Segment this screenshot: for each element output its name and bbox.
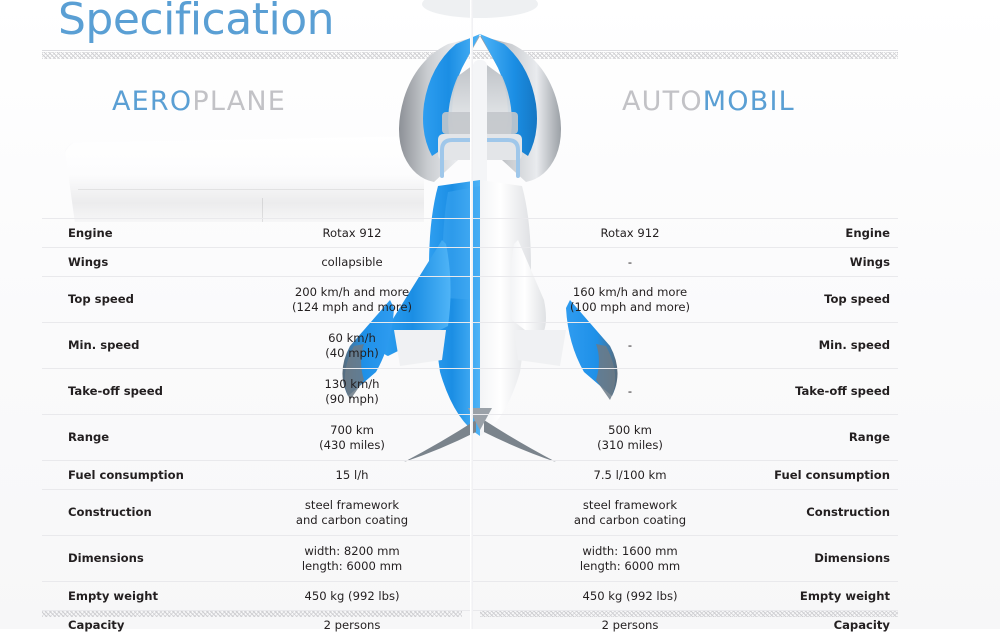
row-label-right: Top speed	[750, 292, 898, 307]
row-label-left: Fuel consumption	[42, 468, 232, 483]
row-label-left: Construction	[42, 505, 232, 520]
automobil-value: 2 persons	[510, 618, 750, 633]
heading-aeroplane-suffix: PLANE	[192, 86, 286, 117]
aeroplane-value: 2 persons	[232, 618, 472, 633]
row-label-left: Engine	[42, 226, 232, 241]
aeroplane-value: 15 l/h	[232, 468, 472, 483]
row-label-left: Dimensions	[42, 551, 232, 566]
automobil-value: 160 km/h and more (100 mph and more)	[510, 285, 750, 315]
column-heading-aeroplane: AEROPLANE	[112, 86, 286, 117]
row-label-right: Capacity	[750, 618, 898, 633]
row-label-left: Empty weight	[42, 589, 232, 604]
automobil-value: 7.5 l/100 km	[510, 468, 750, 483]
row-label-left: Top speed	[42, 292, 232, 307]
row-label-left: Min. speed	[42, 338, 232, 353]
row-label-right: Min. speed	[750, 338, 898, 353]
automobil-value: 450 kg (992 lbs)	[510, 589, 750, 604]
heading-automobil-suffix: MOBIL	[703, 86, 795, 117]
heading-aeroplane-prefix: AERO	[112, 86, 192, 117]
aeroplane-value: 450 kg (992 lbs)	[232, 589, 472, 604]
automobil-value: -	[510, 384, 750, 399]
row-label-right: Dimensions	[750, 551, 898, 566]
automobil-value: 500 km (310 miles)	[510, 423, 750, 453]
row-label-left: Range	[42, 430, 232, 445]
row-label-left: Capacity	[42, 618, 232, 633]
page-title: Specification	[58, 0, 334, 45]
row-label-right: Wings	[750, 255, 898, 270]
row-label-right: Construction	[750, 505, 898, 520]
aeroplane-value: 130 km/h (90 mph)	[232, 377, 472, 407]
aeroplane-value: 700 km (430 miles)	[232, 423, 472, 453]
row-label-right: Take-off speed	[750, 384, 898, 399]
aeroplane-wing-graphic	[64, 136, 424, 222]
automobil-value: width: 1600 mm length: 6000 mm	[510, 544, 750, 574]
aeroplane-value: width: 8200 mm length: 6000 mm	[232, 544, 472, 574]
column-heading-automobil: AUTOMOBIL	[622, 86, 795, 117]
specification-page: Specification AEROPLANE AUTOMOBIL	[0, 0, 1000, 629]
aeroplane-value: Rotax 912	[232, 226, 472, 241]
aeroplane-value: collapsible	[232, 255, 472, 270]
automobil-value: steel framework and carbon coating	[510, 498, 750, 528]
center-divider	[470, 0, 473, 629]
row-label-left: Take-off speed	[42, 384, 232, 399]
automobil-value: Rotax 912	[510, 226, 750, 241]
row-label-right: Range	[750, 430, 898, 445]
aeroplane-value: steel framework and carbon coating	[232, 498, 472, 528]
row-label-right: Empty weight	[750, 589, 898, 604]
heading-automobil-prefix: AUTO	[622, 86, 703, 117]
row-label-right: Fuel consumption	[750, 468, 898, 483]
row-label-right: Engine	[750, 226, 898, 241]
aeroplane-value: 200 km/h and more (124 mph and more)	[232, 285, 472, 315]
aeroplane-value: 60 km/h (40 mph)	[232, 331, 472, 361]
automobil-value: -	[510, 255, 750, 270]
automobil-value: -	[510, 338, 750, 353]
row-label-left: Wings	[42, 255, 232, 270]
